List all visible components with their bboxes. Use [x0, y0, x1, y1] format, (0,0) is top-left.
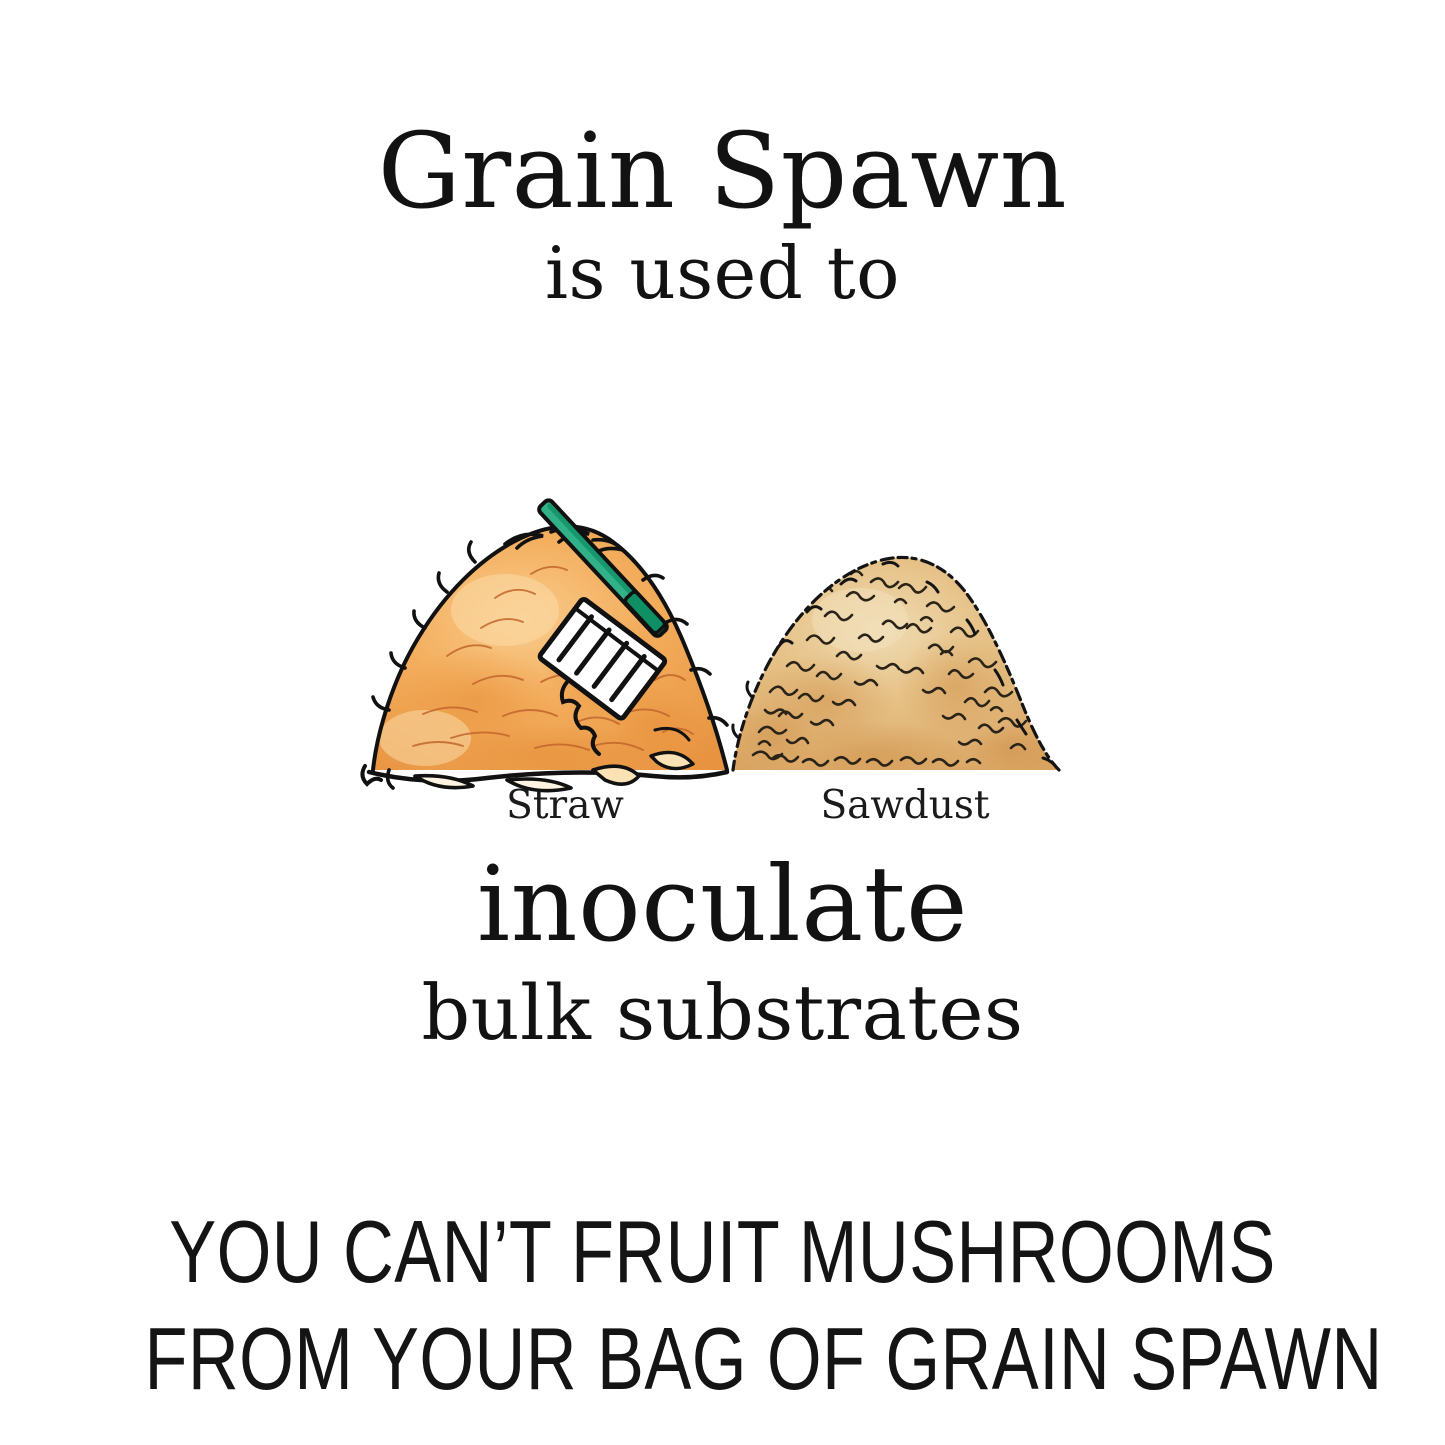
poster-canvas: Grain Spawn is used to [0, 0, 1445, 1445]
sawdust-label: Sawdust [725, 783, 1085, 828]
bottom-caption: YOU CAN’T FRUIT MUSHROOMS FROM YOUR BAG … [0, 1198, 1445, 1413]
pile-captions: Straw Sawdust [355, 783, 1085, 829]
page-title: Grain Spawn [0, 118, 1445, 224]
action-block: inoculate bulk substrates [0, 850, 1445, 1058]
sawdust-pile [733, 557, 1059, 789]
bottom-caption-line-2: FROM YOUR BAG OF GRAIN SPAWN [145, 1305, 1301, 1412]
page-subtitle: is used to [0, 224, 1445, 318]
bottom-caption-line-1: YOU CAN’T FRUIT MUSHROOMS [145, 1198, 1301, 1305]
headline-block: Grain Spawn is used to [0, 118, 1445, 318]
action-verb: inoculate [0, 850, 1445, 959]
straw-label: Straw [355, 783, 775, 828]
substrate-piles-illustration [355, 470, 1085, 830]
action-object: bulk substrates [0, 959, 1445, 1058]
